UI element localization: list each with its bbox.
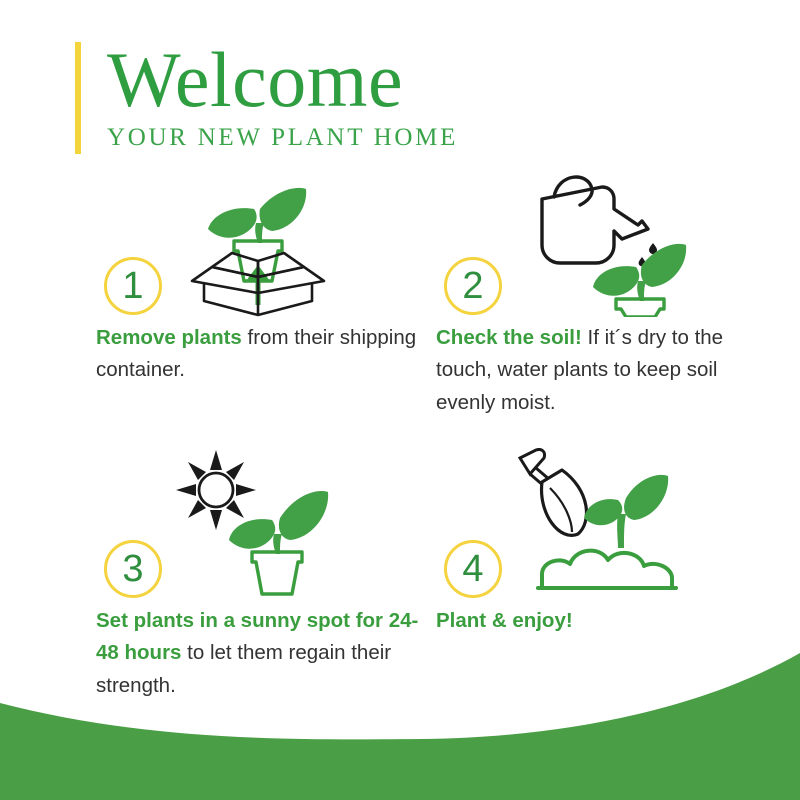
step-item-4: 4	[436, 448, 776, 637]
step-number-badge-2: 2	[444, 257, 502, 315]
header: Welcome YOUR NEW PLANT HOME	[75, 42, 458, 154]
step-number-badge-3: 3	[104, 540, 162, 598]
step-4-text: Plant & enjoy!	[436, 605, 776, 637]
page-title: Welcome	[107, 42, 458, 118]
step-3-icon-row: 3	[96, 448, 426, 603]
accent-bar	[75, 42, 81, 154]
watering-can-plant-icon	[514, 165, 704, 322]
step-2-text: Check the soil! If it´s dry to the touch…	[436, 322, 776, 419]
step-1-text: Remove plants from their shipping contai…	[96, 322, 426, 387]
step-4-icon-row: 4	[436, 448, 776, 603]
sun-over-plant-icon	[174, 448, 349, 603]
page-subtitle: YOUR NEW PLANT HOME	[107, 124, 458, 152]
step-item-2: 2	[436, 165, 776, 419]
step-1-icon-row: 1	[96, 165, 426, 320]
step-number-badge-1: 1	[104, 257, 162, 315]
step-2-highlight: Check the soil!	[436, 326, 582, 349]
footer-wave	[0, 650, 800, 800]
step-number-badge-4: 4	[444, 540, 502, 598]
step-1-highlight: Remove plants	[96, 326, 242, 349]
trowel-planting-icon	[514, 448, 704, 603]
step-item-1: 1	[96, 165, 426, 387]
step-2-icon-row: 2	[436, 165, 776, 320]
plant-out-of-box-icon	[174, 165, 344, 322]
header-text: Welcome YOUR NEW PLANT HOME	[107, 42, 458, 154]
welcome-card: Welcome YOUR NEW PLANT HOME 1	[0, 0, 800, 800]
step-4-highlight: Plant & enjoy!	[436, 609, 573, 632]
